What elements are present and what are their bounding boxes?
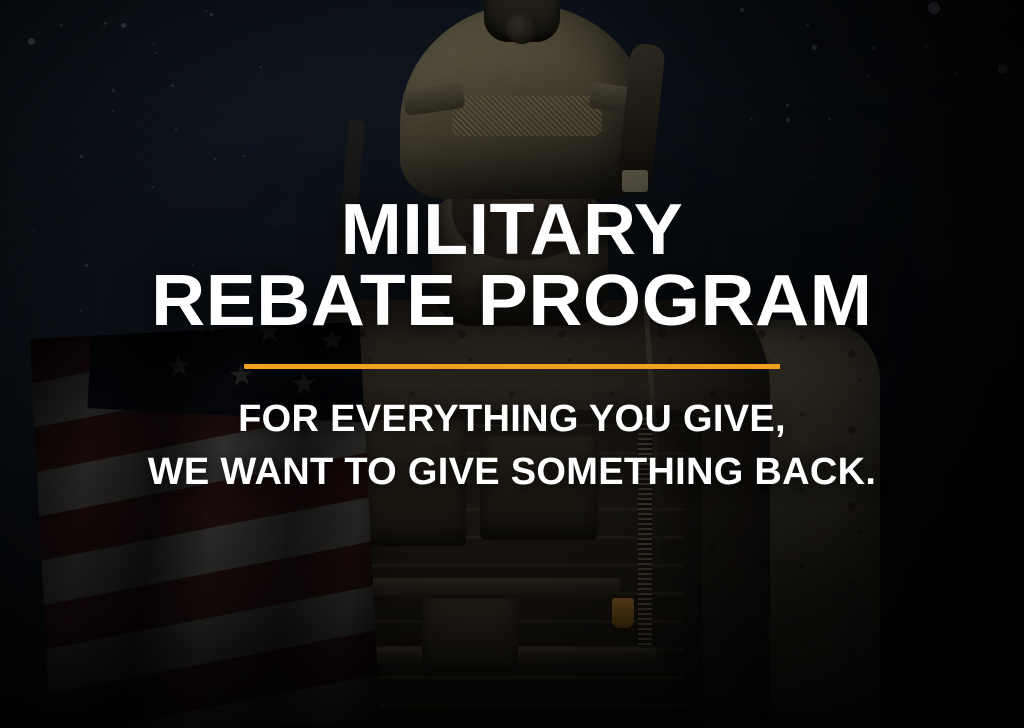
military-rebate-banner: MILITARY REBATE PROGRAM FOR EVERYTHING Y… [0,0,1024,728]
orange-divider [244,364,780,369]
headline-line-1: MILITARY [341,196,684,265]
headline-line-2: REBATE PROGRAM [151,267,872,336]
subheadline-line-1: FOR EVERYTHING YOU GIVE, [238,393,786,445]
banner-content: MILITARY REBATE PROGRAM FOR EVERYTHING Y… [0,0,1024,728]
subheadline-line-2: WE WANT TO GIVE SOMETHING BACK. [148,446,877,498]
